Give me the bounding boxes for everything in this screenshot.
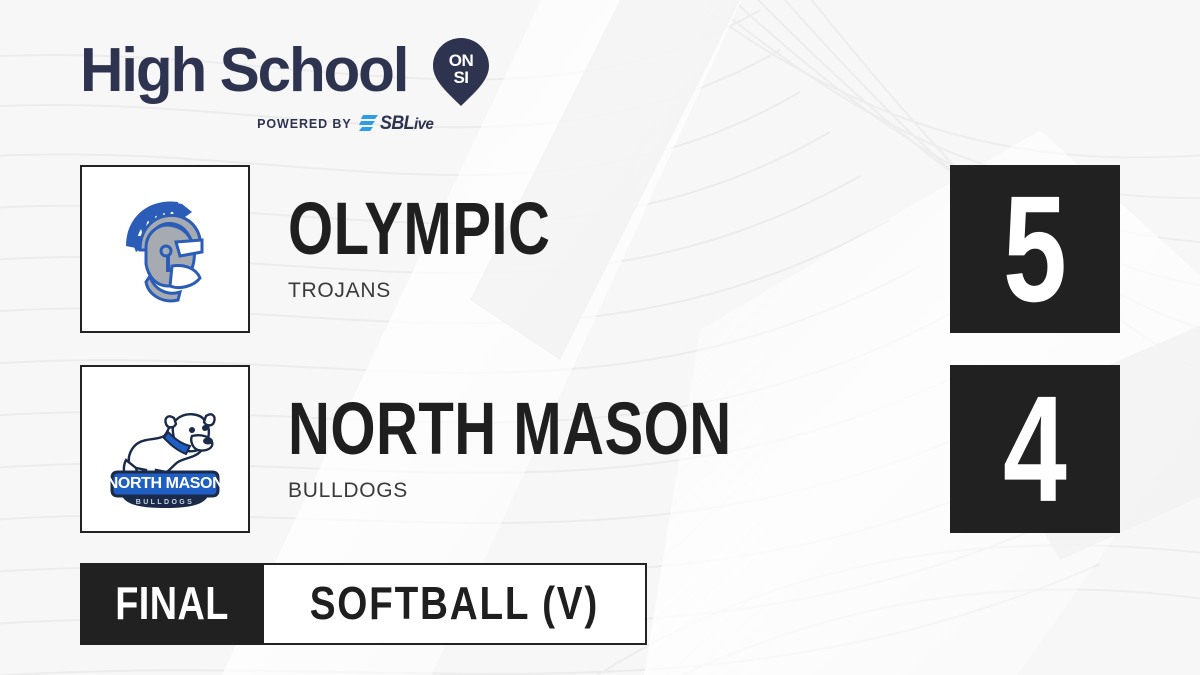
north-mason-bulldogs-logo: NORTH MASON BULLDOGS [106,390,224,508]
sblive-wordmark: SBLive [380,114,433,133]
team-logo-box-away [80,165,250,333]
logo-ribbon-text: BULLDOGS [136,499,194,506]
pin-line-2: SI [454,68,469,87]
team-name-home: NORTH MASON [288,391,732,465]
status-label: FINAL [115,581,229,628]
powered-by-label: POWERED BY [257,117,351,131]
score-value-home: 4 [1003,373,1067,524]
status-badge: FINAL [80,563,264,645]
olympic-trojans-logo [106,190,224,308]
team-info-away: OLYMPIC TROJANS [288,195,586,303]
site-logo[interactable]: High School ON SI POWERED BY SBLive [80,34,491,133]
on-si-pin-icon: ON SI [431,36,491,108]
sport-label: SOFTBALL (V) [310,581,599,628]
team-logo-box-home: NORTH MASON BULLDOGS [80,365,250,533]
score-box-away: 5 [950,165,1120,333]
sblive-swoosh-icon [359,115,378,132]
team-mascot-home: BULLDOGS [288,479,792,503]
score-box-home: 4 [950,365,1120,533]
score-value-away: 5 [1003,173,1067,324]
team-info-home: NORTH MASON BULLDOGS [288,395,792,503]
powered-by-row: POWERED BY SBLive [80,114,491,133]
game-status-bar: FINAL SOFTBALL (V) [80,563,647,645]
team-row-away[interactable]: OLYMPIC TROJANS [80,165,586,333]
sblive-logo: SBLive [359,114,437,133]
sblive-main: SBL [380,113,414,134]
sblive-suffix: ive [414,116,433,133]
team-name-away: OLYMPIC [288,191,550,265]
logo-banner-text: NORTH MASON [107,475,223,492]
sport-label-box: SOFTBALL (V) [264,563,647,645]
team-mascot-away: TROJANS [288,279,586,303]
team-row-home[interactable]: NORTH MASON BULLDOGS NORTH MASON BULLDOG… [80,365,792,533]
brand-title: High School [80,42,407,101]
